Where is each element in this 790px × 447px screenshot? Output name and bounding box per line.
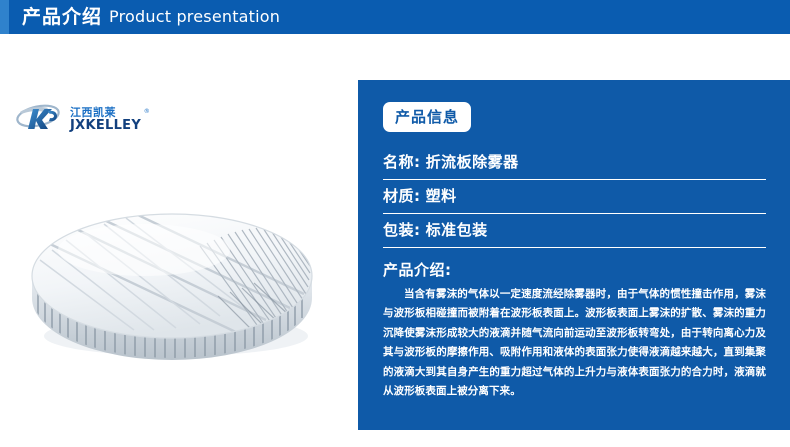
brand-logo: 江西凯莱 JXKELLEY ®: [14, 96, 138, 142]
brand-logo-text: 江西凯莱 JXKELLEY ®: [70, 107, 141, 132]
jxkelley-k-swoosh-icon: [14, 99, 68, 139]
product-description-heading: 产品介绍:: [383, 259, 766, 280]
header-accent-strip: [0, 0, 9, 34]
spec-value-packaging: 标准包装: [426, 221, 488, 239]
spec-row-name: 名称: 折流板除雾器: [383, 146, 766, 180]
spec-label-packaging: 包装:: [383, 221, 421, 239]
page-title: 产品介绍 Product presentation: [22, 0, 280, 34]
spec-value-material: 塑料: [426, 187, 457, 205]
spec-value-name: 折流板除雾器: [426, 153, 519, 171]
product-info-badge: 产品信息: [383, 102, 471, 132]
spec-row-packaging: 包装: 标准包装: [383, 214, 766, 248]
page-title-english: Product presentation: [109, 0, 280, 34]
product-info-panel: 产品信息 名称: 折流板除雾器 材质: 塑料 包装: 标准包装 产品介绍: 当含…: [358, 80, 790, 430]
spec-row-material: 材质: 塑料: [383, 180, 766, 214]
brand-name-english: JXKELLEY ®: [70, 119, 141, 132]
page-header-bar: 产品介绍 Product presentation: [0, 0, 790, 34]
product-description-block: 产品介绍: 当含有雾沫的气体以一定速度流经除雾器时，由于气体的惯性撞击作用，雾沫…: [378, 259, 770, 402]
spec-label-material: 材质:: [383, 187, 421, 205]
brand-name-english-label: JXKELLEY: [70, 118, 141, 133]
left-media-column: 江西凯莱 JXKELLEY ®: [0, 34, 358, 447]
registered-trademark-icon: ®: [144, 109, 150, 115]
product-spec-list: 名称: 折流板除雾器 材质: 塑料 包装: 标准包装: [378, 146, 770, 248]
product-description-body: 当含有雾沫的气体以一定速度流经除雾器时，由于气体的惯性撞击作用，雾沫与波形板相碰…: [383, 285, 766, 402]
brand-name-chinese: 江西凯莱: [70, 107, 141, 118]
page-title-chinese: 产品介绍: [22, 0, 102, 34]
product-image: [4, 184, 340, 404]
spec-label-name: 名称:: [383, 153, 421, 171]
